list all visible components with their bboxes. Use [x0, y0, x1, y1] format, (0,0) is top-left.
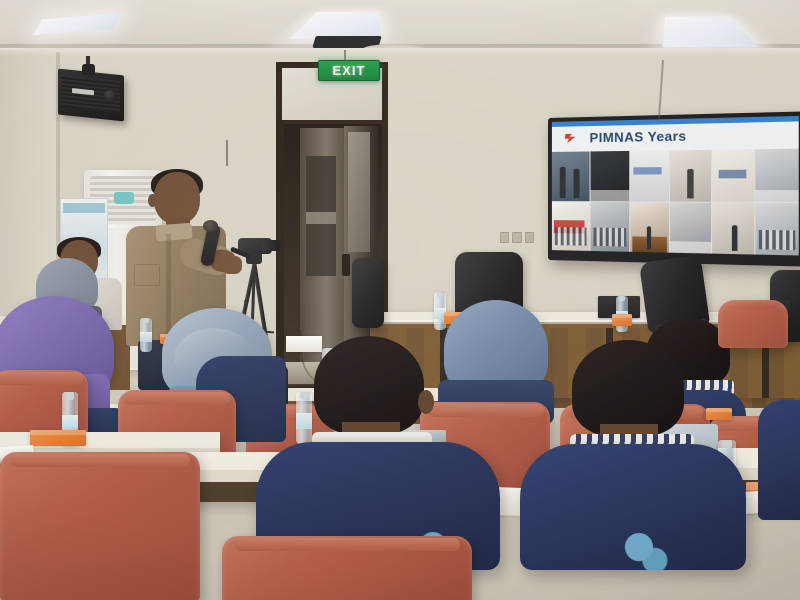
wall-speaker — [58, 69, 124, 122]
chair-back — [0, 452, 200, 600]
chair-top-lip — [10, 454, 190, 467]
camera-lens-icon — [262, 240, 280, 251]
audience-navy-center — [250, 336, 500, 566]
tv-screen: PIMNAS Years — [552, 116, 799, 256]
door-glass — [348, 132, 370, 252]
water-bottle[interactable] — [140, 318, 152, 352]
collage-photo — [671, 150, 712, 201]
wall-outlets[interactable] — [500, 232, 534, 241]
person-shirt — [758, 400, 800, 520]
presenter-head — [154, 172, 200, 224]
wall-highlight-band — [0, 48, 800, 56]
pimnas-logo-icon — [564, 131, 578, 145]
collage-photo — [756, 202, 799, 255]
speaker-cone-icon — [104, 89, 116, 102]
audience-navy-edge-right — [758, 400, 800, 520]
collage-photo — [756, 149, 799, 202]
presenter-collar — [155, 223, 192, 241]
tv-cable — [226, 140, 228, 166]
wall-mounted-tv[interactable]: PIMNAS Years — [548, 111, 800, 266]
corridor-light — [306, 212, 336, 224]
slide-photo-collage — [552, 149, 799, 256]
collage-photo — [552, 151, 589, 200]
speaker-mount-knuckle — [82, 64, 95, 75]
microphone-head-icon — [203, 220, 218, 232]
wall-outlet[interactable] — [500, 232, 509, 243]
chair-top-lip — [124, 392, 230, 405]
wall-outlet[interactable] — [512, 232, 521, 243]
batik-pattern — [606, 526, 672, 570]
collage-photo — [712, 149, 754, 201]
audience-navy-right — [520, 340, 750, 568]
collage-photo — [590, 151, 629, 201]
person-hair — [314, 336, 424, 434]
chair-top-lip — [0, 372, 83, 385]
door-handle[interactable] — [342, 254, 350, 276]
presenter-shirt-pocket — [134, 264, 160, 286]
upholstered-chair[interactable] — [0, 452, 200, 600]
exit-sign: EXIT — [318, 60, 380, 81]
meeting-room-photo: EXIT PIMNAS Years — [0, 0, 800, 600]
collage-photo — [630, 150, 670, 201]
slide-title: PIMNAS Years — [590, 128, 687, 145]
person-hair — [572, 340, 684, 436]
wall-outlet[interactable] — [525, 232, 534, 243]
collage-photo — [552, 202, 589, 251]
snack-box[interactable] — [30, 430, 86, 446]
exit-sign-label: EXIT — [333, 64, 366, 77]
upholstered-chair[interactable] — [222, 536, 472, 600]
poster-header-bar — [63, 203, 105, 213]
presenter-ear — [148, 194, 157, 207]
collage-photo — [671, 202, 712, 254]
collage-photo — [630, 202, 670, 253]
chair-top-lip — [235, 538, 460, 551]
person-ear — [418, 390, 434, 414]
collage-photo — [712, 202, 754, 254]
collage-photo — [590, 202, 629, 252]
